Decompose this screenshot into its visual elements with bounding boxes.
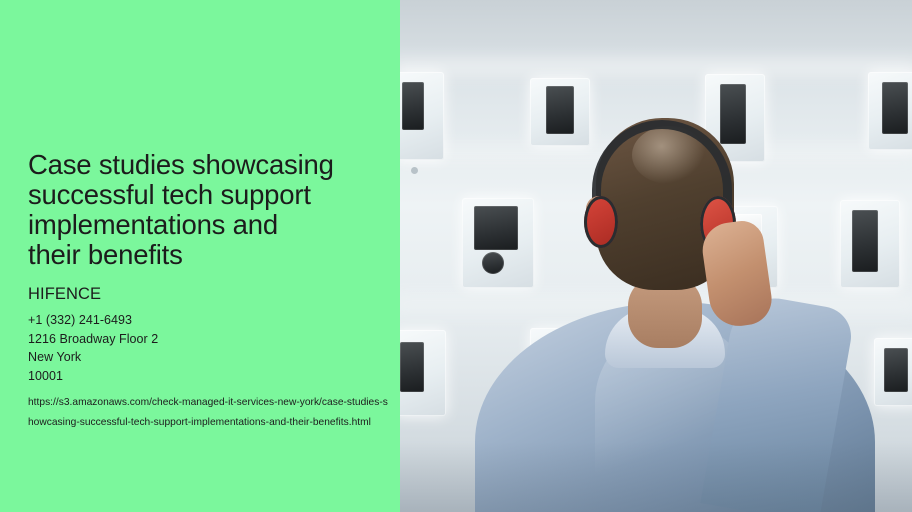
wall-device-mid-left-lower [482,252,504,274]
photo-bottom-shadow [400,442,912,512]
street-address: 1216 Broadway Floor 2 [28,330,408,349]
text-content-block: Case studies showcasing successful tech … [28,150,408,433]
zip-code: 10001 [28,367,408,386]
photo-image [400,0,912,512]
headphone-cup-left [584,196,618,248]
source-url[interactable]: https://s3.amazonaws.com/check-managed-i… [28,393,388,433]
wall-device-top-left [402,82,424,130]
wall-device-bottom-left [400,342,424,392]
wall-device-mid-left [474,206,518,250]
wall-device-top-mid-left [546,86,574,134]
wall-device-top-mid [720,84,746,144]
wall-device-mid-far-right [852,210,878,272]
page-title: Case studies showcasing successful tech … [28,150,408,270]
left-text-panel: Case studies showcasing successful tech … [0,0,400,512]
poster-page: Case studies showcasing successful tech … [0,0,912,512]
wall-dot-marker [411,167,418,174]
company-name: HIFENCE [28,284,408,304]
wall-device-top-right [882,82,908,134]
city: New York [28,348,408,367]
wall-device-bottom-far-right [884,348,908,392]
phone-number: +1 (332) 241-6493 [28,311,408,330]
light-strip-top [400,62,912,72]
right-photo-panel [400,0,912,512]
